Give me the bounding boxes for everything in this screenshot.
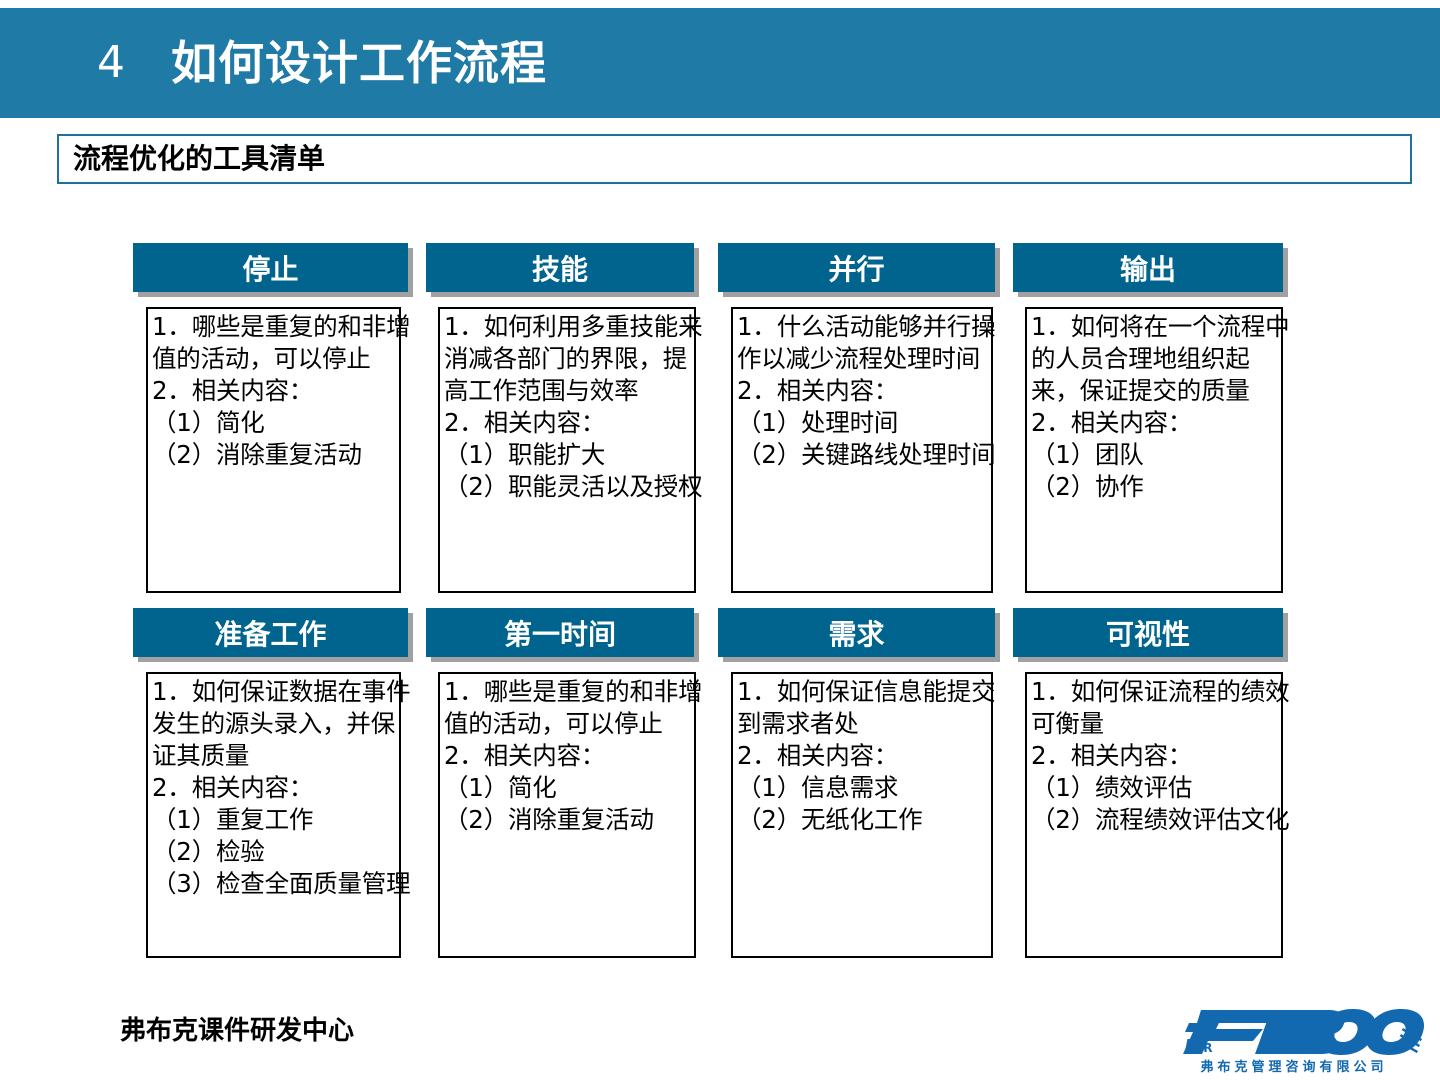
tool-card-body: 1．如何保证数据在事件发生的源头录入，并保证其质量 2．相关内容： （1）重复工… [146,672,401,958]
tool-card-title: 输出 [1013,243,1283,292]
tool-card-title: 停止 [133,243,408,292]
tool-card-text: 1．如何保证数据在事件发生的源头录入，并保证其质量 2．相关内容： （1）重复工… [152,676,415,900]
tool-card-body: 1．如何将在一个流程中的人员合理地组织起来，保证提交的质量 2．相关内容： （1… [1025,307,1283,593]
tool-card-title: 并行 [718,243,995,292]
tool-card-text: 1．如何利用多重技能来消减各部门的界限，提高工作范围与效率 2．相关内容： （1… [444,311,710,503]
tool-card-body: 1．哪些是重复的和非增值的活动，可以停止 2．相关内容： （1）简化 （2）消除… [438,672,696,958]
tool-card: 需求 1．如何保证信息能提交到需求者处 2．相关内容： （1）信息需求 （2）无… [718,608,995,657]
slide-header-band: 4 如何设计工作流程 [0,8,1440,118]
tool-card-body: 1．如何保证流程的绩效可衡量 2．相关内容： （1）绩效评估 （2）流程绩效评估… [1025,672,1283,958]
tool-card-body: 1．哪些是重复的和非增值的活动，可以停止 2．相关内容： （1）简化 （2）消除… [146,307,401,593]
tool-card-body: 1．什么活动能够并行操作以减少流程处理时间 2．相关内容： （1）处理时间 （2… [731,307,993,593]
tool-card-title: 需求 [718,608,995,657]
tool-card-title: 第一时间 [426,608,694,657]
tool-card-body: 1．如何保证信息能提交到需求者处 2．相关内容： （1）信息需求 （2）无纸化工… [731,672,993,958]
logo-company-name: 弗布克管理咨询有限公司 [1163,1056,1425,1075]
fbook-logo-mark: F OR [1163,1006,1425,1058]
tool-card-text: 1．哪些是重复的和非增值的活动，可以停止 2．相关内容： （1）简化 （2）消除… [444,676,710,836]
tool-card-title: 技能 [426,243,694,292]
tool-card-text: 1．如何保证流程的绩效可衡量 2．相关内容： （1）绩效评估 （2）流程绩效评估… [1031,676,1297,836]
tool-card: 准备工作 1．如何保证数据在事件发生的源头录入，并保证其质量 2．相关内容： （… [133,608,408,657]
svg-text:OR: OR [1193,1041,1212,1055]
page-title: 如何设计工作流程 [171,40,547,86]
tool-card-text: 1．如何保证信息能提交到需求者处 2．相关内容： （1）信息需求 （2）无纸化工… [737,676,1007,836]
fbook-logo: F OR 弗布克管理咨询有限公司 [1163,1006,1425,1074]
tool-card: 技能 1．如何利用多重技能来消减各部门的界限，提高工作范围与效率 2．相关内容：… [426,243,694,292]
tool-card-text: 1．什么活动能够并行操作以减少流程处理时间 2．相关内容： （1）处理时间 （2… [737,311,1007,471]
tool-card: 停止 1．哪些是重复的和非增值的活动，可以停止 2．相关内容： （1）简化 （2… [133,243,408,292]
tool-card: 可视性 1．如何保证流程的绩效可衡量 2．相关内容： （1）绩效评估 （2）流程… [1013,608,1283,657]
tool-card: 第一时间 1．哪些是重复的和非增值的活动，可以停止 2．相关内容： （1）简化 … [426,608,694,657]
tool-card-title: 可视性 [1013,608,1283,657]
tool-card-text: 1．哪些是重复的和非增值的活动，可以停止 2．相关内容： （1）简化 （2）消除… [152,311,415,471]
subtitle-box: 流程优化的工具清单 [57,134,1412,184]
tool-card: 输出 1．如何将在一个流程中的人员合理地组织起来，保证提交的质量 2．相关内容：… [1013,243,1283,292]
tool-card: 并行 1．什么活动能够并行操作以减少流程处理时间 2．相关内容： （1）处理时间… [718,243,995,292]
tool-card-title: 准备工作 [133,608,408,657]
slide-number: 4 [97,41,125,85]
subtitle-text: 流程优化的工具清单 [73,145,325,173]
tool-card-body: 1．如何利用多重技能来消减各部门的界限，提高工作范围与效率 2．相关内容： （1… [438,307,696,593]
tool-card-text: 1．如何将在一个流程中的人员合理地组织起来，保证提交的质量 2．相关内容： （1… [1031,311,1297,503]
footer-text: 弗布克课件研发中心 [120,1010,354,1047]
